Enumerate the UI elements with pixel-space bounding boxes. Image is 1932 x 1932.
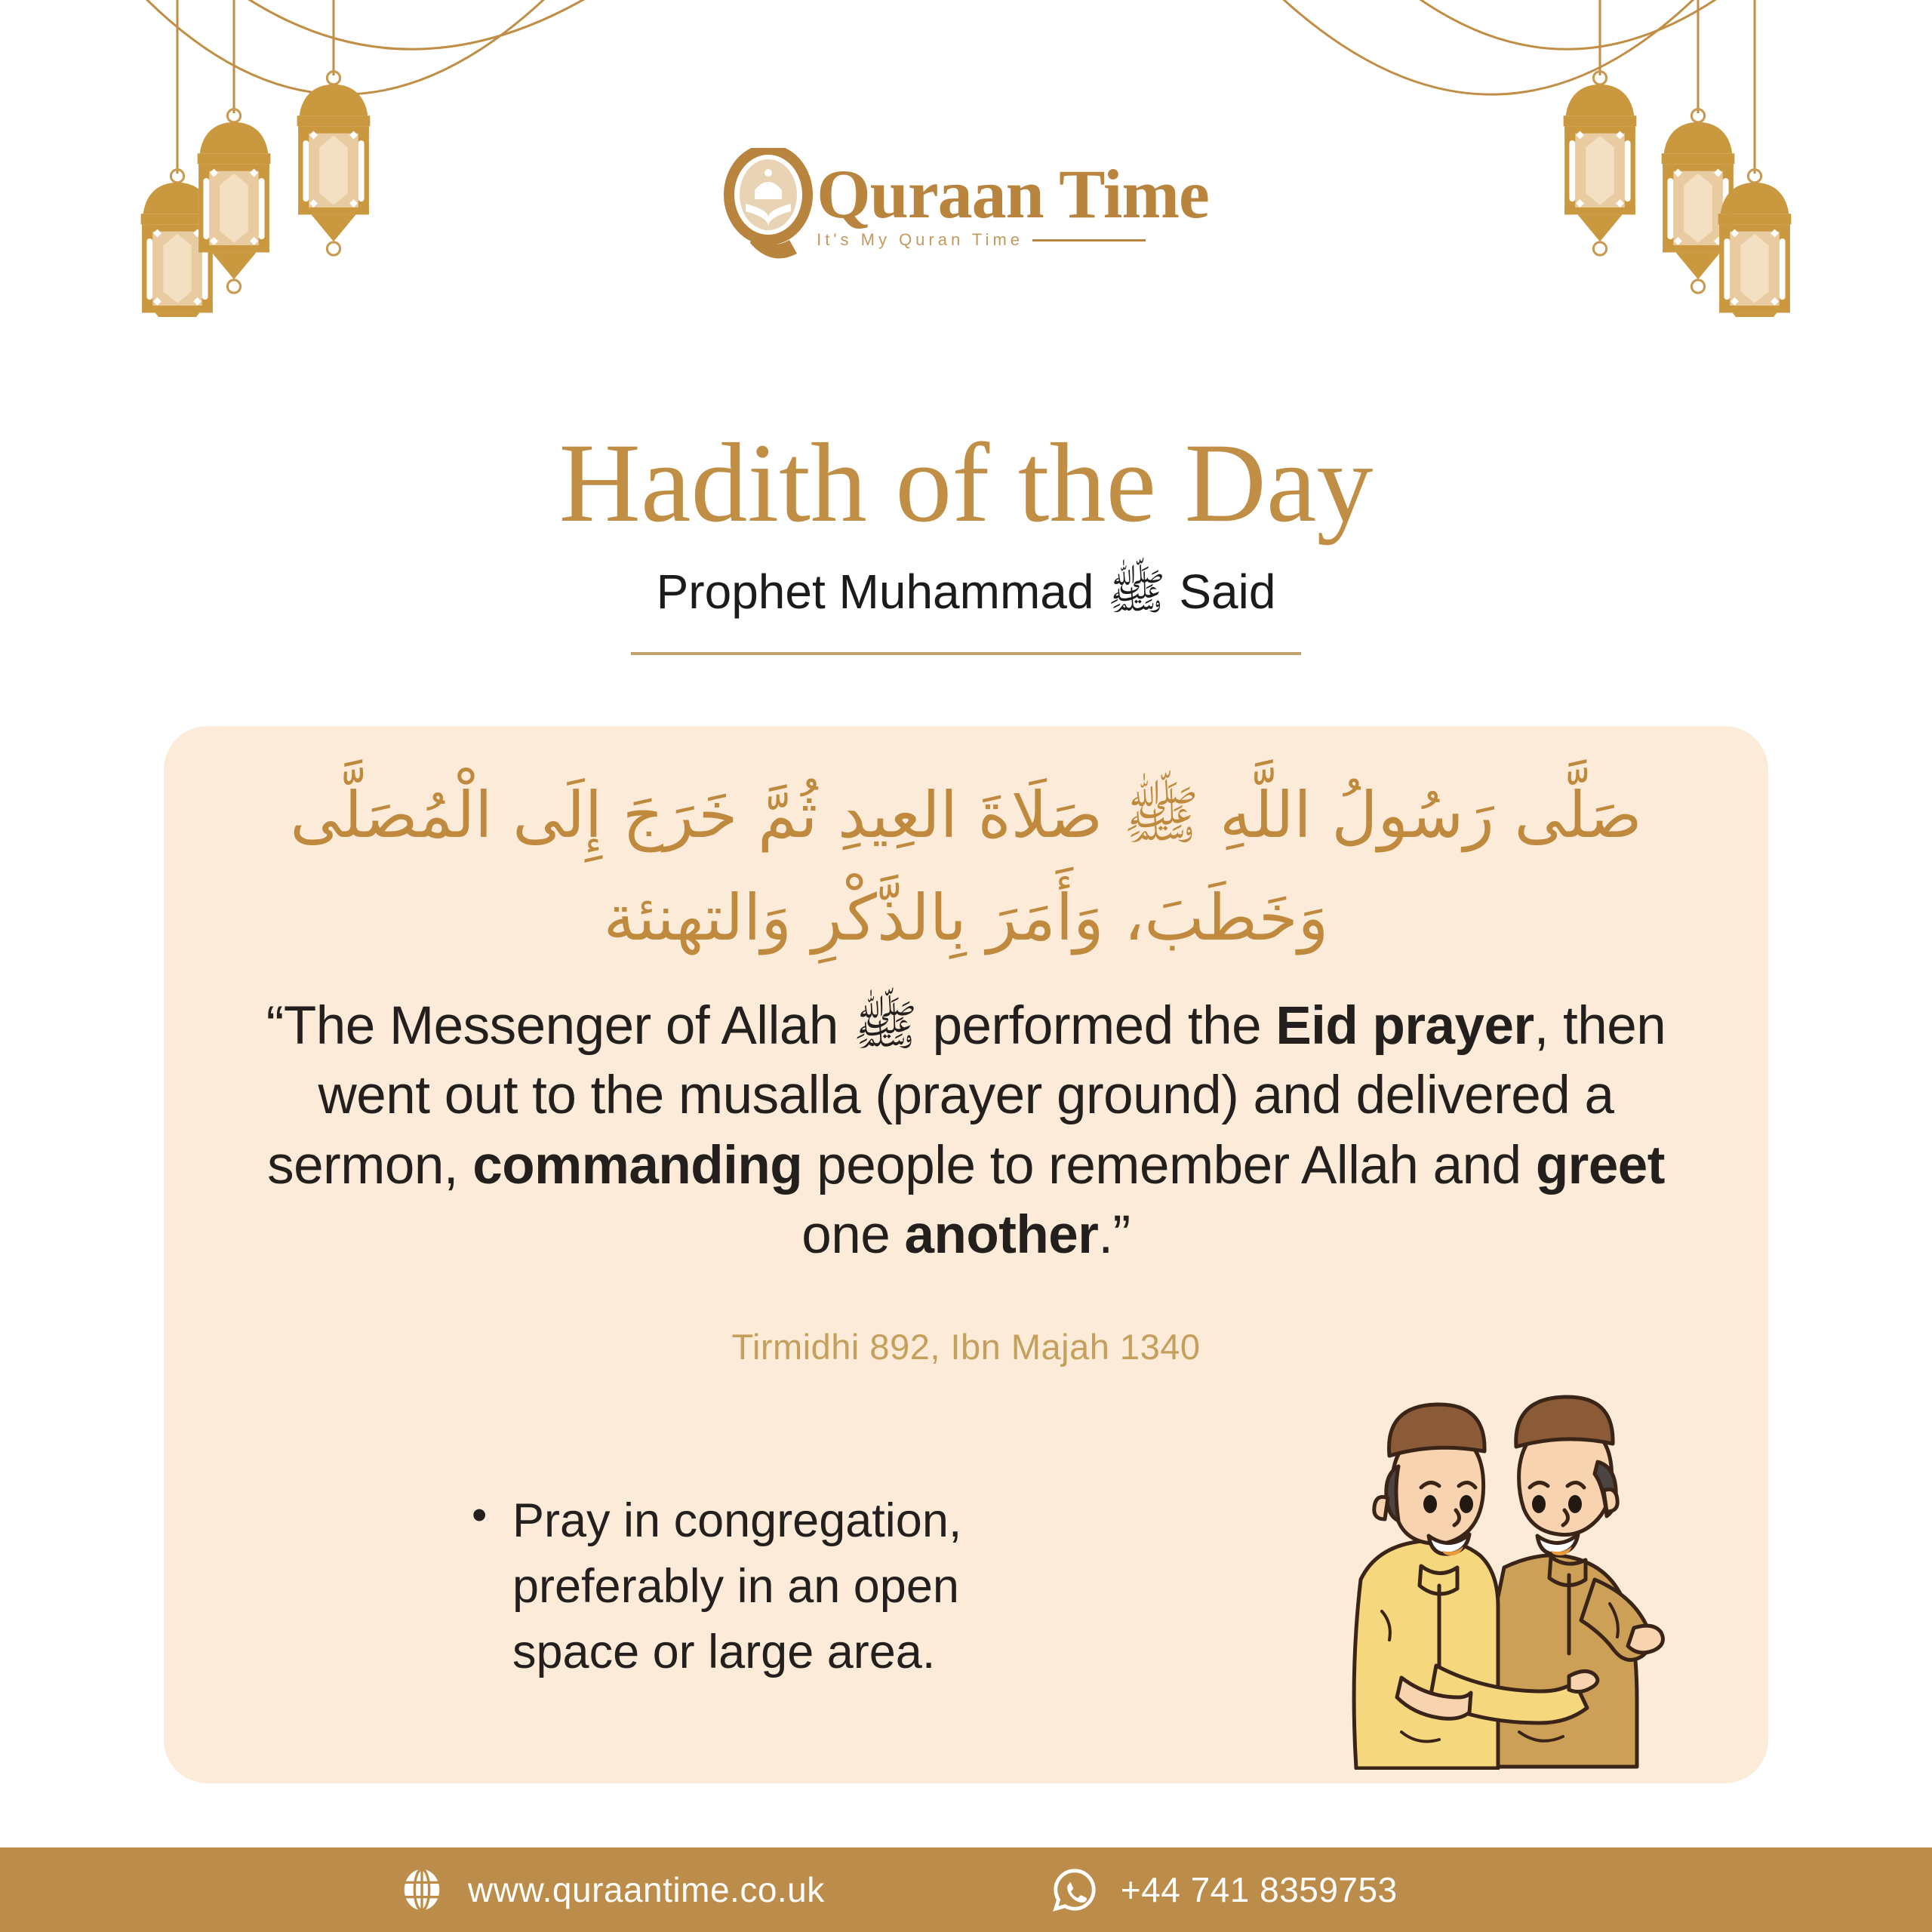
- page-subtitle: Prophet Muhammad ﷺ Said: [631, 562, 1302, 655]
- footer-website-text: www.quraantime.co.uk: [468, 1869, 825, 1910]
- whatsapp-icon: [1051, 1866, 1098, 1913]
- footer-phone-text: +44 741 8359753: [1121, 1869, 1398, 1910]
- practice-tips-list: Pray in congregation, preferably in an o…: [466, 1488, 1054, 1685]
- page-title: Hadith of the Day: [0, 426, 1932, 540]
- page-subtitle-wrap: Prophet Muhammad ﷺ Said: [0, 562, 1932, 655]
- footer-phone-item[interactable]: +44 741 8359753: [1051, 1866, 1398, 1913]
- arabic-line-2: وَخَطَبَ، وَأَمَرَ بِالذَّكْرِ وَالتهنئة: [209, 866, 1723, 969]
- logo-tagline: It's My Quran Time: [817, 230, 1023, 250]
- arabic-line-1: صَلَّى رَسُولُ اللَّهِ ﷺ صَلَاةَ العِيدِ…: [209, 764, 1723, 866]
- globe-icon: [398, 1866, 445, 1913]
- hadith-arabic-text: صَلَّى رَسُولُ اللَّهِ ﷺ صَلَاةَ العِيدِ…: [209, 764, 1723, 969]
- brand-logo: Quraan Time It's My Quran Time: [0, 148, 1932, 261]
- logo-rule: [1032, 239, 1146, 241]
- logo-title: Quraan Time: [817, 159, 1209, 229]
- list-item: Pray in congregation, preferably in an o…: [466, 1488, 1054, 1685]
- footer-website-item[interactable]: www.quraantime.co.uk: [398, 1866, 825, 1913]
- hadith-card: صَلَّى رَسُولُ اللَّهِ ﷺ صَلَاةَ العِيدِ…: [164, 726, 1768, 1783]
- quran-book-dome-icon: [723, 148, 814, 261]
- two-men-embracing-illustration: [1329, 1377, 1684, 1770]
- hadith-translation: “The Messenger of Allah ﷺ performed the …: [247, 992, 1685, 1270]
- hadith-citation: Tirmidhi 892, Ibn Majah 1340: [247, 1326, 1685, 1367]
- contact-footer: www.quraantime.co.uk +44 741 8359753: [0, 1847, 1932, 1932]
